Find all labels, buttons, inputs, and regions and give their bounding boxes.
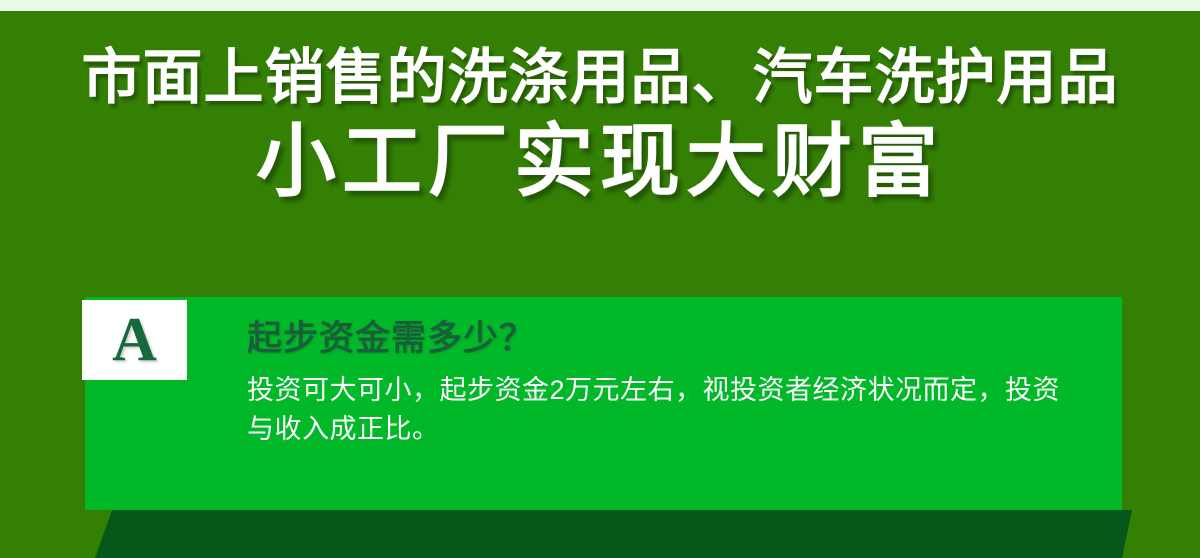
- answer-card-text: 起步资金需多少？ 投资可大可小，起步资金2万元左右，视投资者经济状况而定，投资与…: [247, 319, 1104, 450]
- answer-question: 起步资金需多少？: [247, 319, 1104, 359]
- footer-band: [0, 510, 1200, 558]
- answer-card: A 起步资金需多少？ 投资可大可小，起步资金2万元左右，视投资者经济状况而定，投…: [85, 297, 1122, 510]
- headline-line-1: 市面上销售的洗涤用品、汽车洗护用品: [0, 48, 1200, 108]
- headline-line-2: 小工厂实现大财富: [0, 122, 1200, 202]
- answer-body: 投资可大可小，起步资金2万元左右，视投资者经济状况而定，投资与收入成正比。: [247, 371, 1077, 449]
- headline-block: 市面上销售的洗涤用品、汽车洗护用品 小工厂实现大财富: [0, 48, 1200, 202]
- answer-badge: A: [82, 300, 187, 380]
- answer-badge-letter: A: [112, 309, 157, 371]
- top-accent-strip: [0, 0, 1200, 11]
- poster-root: 市面上销售的洗涤用品、汽车洗护用品 小工厂实现大财富 A 起步资金需多少？ 投资…: [0, 0, 1200, 558]
